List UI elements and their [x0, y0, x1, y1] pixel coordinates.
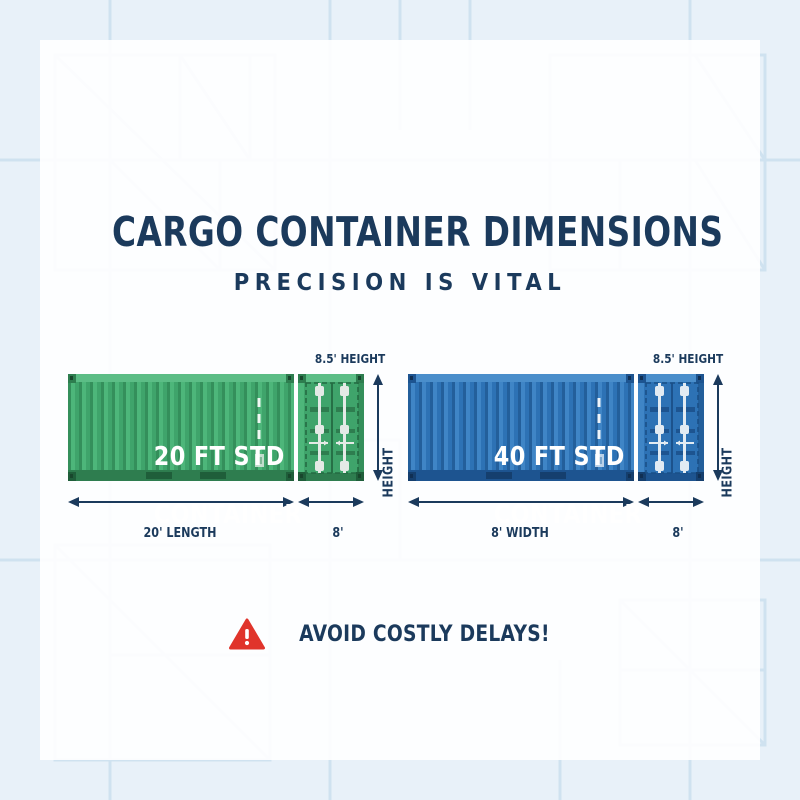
- green-dimension-arrows: [68, 497, 364, 507]
- blue-container-drawing: [400, 350, 740, 550]
- blue-container-diagram: 8.5' HEIGHT: [400, 350, 740, 550]
- warning-triangle-icon: [229, 618, 265, 650]
- green-door-end: [298, 374, 364, 481]
- blue-side-body: [408, 374, 634, 481]
- green-container-drawing: [60, 350, 400, 550]
- page-subtitle: PRECISION IS VITAL: [69, 270, 731, 296]
- green-height-axis-label: HEIGHT: [382, 448, 397, 498]
- blue-height-axis-label: HEIGHT: [721, 448, 736, 498]
- infographic-page: CARGO CONTAINER DIMENSIONS PRECISION IS …: [0, 0, 800, 800]
- content-card: CARGO CONTAINER DIMENSIONS PRECISION IS …: [40, 40, 760, 760]
- warning-row: AVOID COSTLY DELAYS!: [40, 618, 760, 650]
- warning-message: AVOID COSTLY DELAYS!: [299, 622, 550, 647]
- green-length-label: 20' LENGTH: [85, 526, 274, 541]
- green-side-body: [68, 374, 294, 481]
- green-end-width-label: 8': [295, 526, 381, 541]
- title-block: CARGO CONTAINER DIMENSIONS PRECISION IS …: [40, 208, 760, 296]
- green-container-diagram: 8.5' HEIGHT: [60, 350, 400, 550]
- blue-width-label: 8' WIDTH: [425, 526, 614, 541]
- page-title: CARGO CONTAINER DIMENSIONS: [112, 208, 688, 256]
- blue-dimension-arrows: [408, 497, 704, 507]
- blue-end-width-label: 8': [635, 526, 721, 541]
- blue-door-end: [638, 374, 704, 481]
